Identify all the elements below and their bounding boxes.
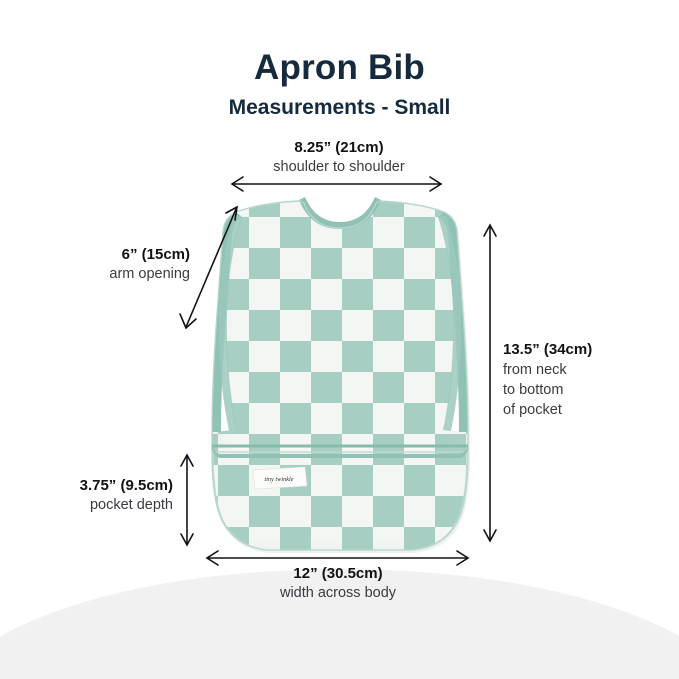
- measurement-label-pocket-depth: 3.75” (9.5cm) pocket depth: [8, 476, 173, 515]
- bib-garment: tiny twinkle: [200, 190, 490, 570]
- measurement-label-width-across-body: 12” (30.5cm) width across body: [208, 564, 468, 603]
- measurement-value-shoulder-to-shoulder: 8.25” (21cm): [219, 138, 459, 158]
- arrow-neck-to-pocket: [484, 225, 496, 541]
- measurement-desc-width-across-body: width across body: [208, 584, 468, 603]
- measurement-desc-arm-opening: arm opening: [20, 265, 190, 284]
- measurement-value-width-across-body: 12” (30.5cm): [208, 564, 468, 584]
- arrow-pocket-depth: [181, 455, 193, 545]
- arrow-shoulder-to-shoulder: [232, 177, 441, 191]
- measurement-value-neck-to-pocket: 13.5” (34cm): [503, 340, 673, 360]
- brand-tag: tiny twinkle: [253, 467, 307, 489]
- brand-tag-label: tiny twinkle: [264, 477, 293, 483]
- measurement-label-neck-to-pocket: 13.5” (34cm) from neck to bottom of pock…: [503, 340, 673, 420]
- arrow-width-across-body: [207, 551, 468, 565]
- measurement-value-arm-opening: 6” (15cm): [20, 245, 190, 265]
- measurement-value-pocket-depth: 3.75” (9.5cm): [8, 476, 173, 496]
- measurement-desc-pocket-depth: pocket depth: [8, 496, 173, 515]
- measurement-desc-neck-to-pocket-2: to bottom: [503, 380, 673, 400]
- pocket-shading: [200, 448, 490, 558]
- measurement-label-arm-opening: 6” (15cm) arm opening: [20, 245, 190, 284]
- measurement-desc-neck-to-pocket-3: of pocket: [503, 400, 673, 420]
- measurement-desc-neck-to-pocket-1: from neck: [503, 360, 673, 380]
- measurement-desc-shoulder-to-shoulder: shoulder to shoulder: [219, 158, 459, 177]
- measurement-label-shoulder-to-shoulder: 8.25” (21cm) shoulder to shoulder: [219, 138, 459, 177]
- bib-pocket: [200, 445, 490, 558]
- measurement-diagram-page: Apron Bib Measurements - Small: [0, 0, 679, 679]
